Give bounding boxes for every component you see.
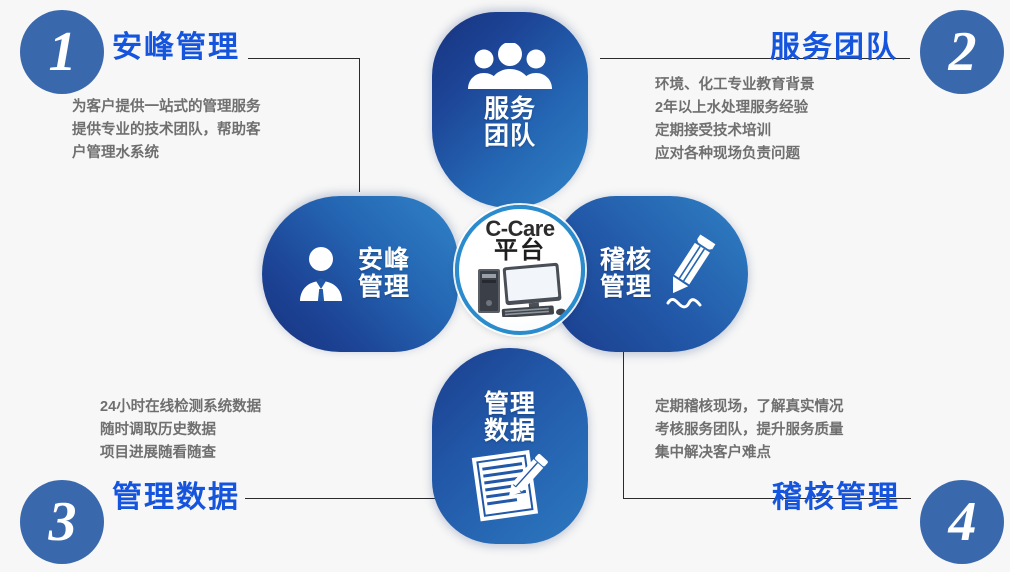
pencil-signature-icon bbox=[658, 231, 724, 318]
section-heading-4: 稽核管理 bbox=[772, 472, 900, 516]
copy-line: 户管理水系统 bbox=[72, 142, 261, 165]
section-copy-3: 24小时在线检测系统数据 随时调取历史数据 项目进展随看随查 bbox=[100, 396, 261, 465]
three-people-icon bbox=[464, 43, 556, 94]
section-copy-1: 为客户提供一站式的管理服务 提供专业的技术团队，帮助客 户管理水系统 bbox=[72, 96, 261, 165]
copy-line: 提供专业的技术团队，帮助客 bbox=[72, 119, 261, 142]
number-badge-2: 2 bbox=[920, 10, 1004, 94]
section-copy-2: 环境、化工专业教育背景 2年以上水处理服务经验 定期接受技术培训 应对各种现场负… bbox=[655, 74, 815, 166]
petal-label-audit-management: 稽核 管理 bbox=[600, 247, 652, 301]
number-badge-1: 1 bbox=[20, 10, 104, 94]
petal-label-management-data: 管理 数据 bbox=[484, 391, 536, 445]
number-badge-4: 4 bbox=[920, 480, 1004, 564]
copy-line: 随时调取历史数据 bbox=[100, 419, 261, 442]
section-heading-3: 管理数据 bbox=[112, 472, 240, 516]
petal-service-team[interactable]: 服务 团队 bbox=[432, 12, 588, 208]
connector-line-1-horizontal bbox=[248, 58, 360, 59]
connector-line-4-vertical bbox=[623, 352, 624, 498]
hub-subtitle: 平台 bbox=[494, 239, 546, 263]
copy-line: 为客户提供一站式的管理服务 bbox=[72, 96, 261, 119]
copy-line: 定期稽核现场，了解真实情况 bbox=[655, 396, 844, 419]
section-heading-2: 服务团队 bbox=[770, 22, 898, 66]
petal-label-anfeng-management: 安峰 管理 bbox=[358, 247, 410, 301]
infographic-canvas: 服务 团队 安峰 管理 bbox=[0, 0, 1010, 572]
connector-line-3-horizontal bbox=[245, 498, 453, 499]
petal-management-data[interactable]: 管理 数据 bbox=[432, 348, 588, 544]
businessman-icon bbox=[290, 241, 352, 308]
center-hub-platform[interactable]: C-Care 平台 bbox=[455, 205, 585, 335]
copy-line: 2年以上水处理服务经验 bbox=[655, 97, 815, 120]
copy-line: 项目进展随看随查 bbox=[100, 442, 261, 465]
copy-line: 定期接受技术培训 bbox=[655, 120, 815, 143]
copy-line: 环境、化工专业教育背景 bbox=[655, 74, 815, 97]
section-copy-4: 定期稽核现场，了解真实情况 考核服务团队，提升服务质量 集中解决客户难点 bbox=[655, 396, 844, 465]
connector-line-1-vertical bbox=[359, 58, 360, 192]
desktop-computer-icon bbox=[472, 261, 568, 322]
clipboard-pencil-icon bbox=[466, 447, 554, 530]
petal-anfeng-management[interactable]: 安峰 管理 bbox=[262, 196, 458, 352]
copy-line: 24小时在线检测系统数据 bbox=[100, 396, 261, 419]
section-heading-1: 安峰管理 bbox=[112, 22, 240, 66]
copy-line: 考核服务团队，提升服务质量 bbox=[655, 419, 844, 442]
number-badge-3: 3 bbox=[20, 480, 104, 564]
copy-line: 应对各种现场负责问题 bbox=[655, 143, 815, 166]
petal-label-service-team: 服务 团队 bbox=[484, 96, 536, 150]
copy-line: 集中解决客户难点 bbox=[655, 442, 844, 465]
